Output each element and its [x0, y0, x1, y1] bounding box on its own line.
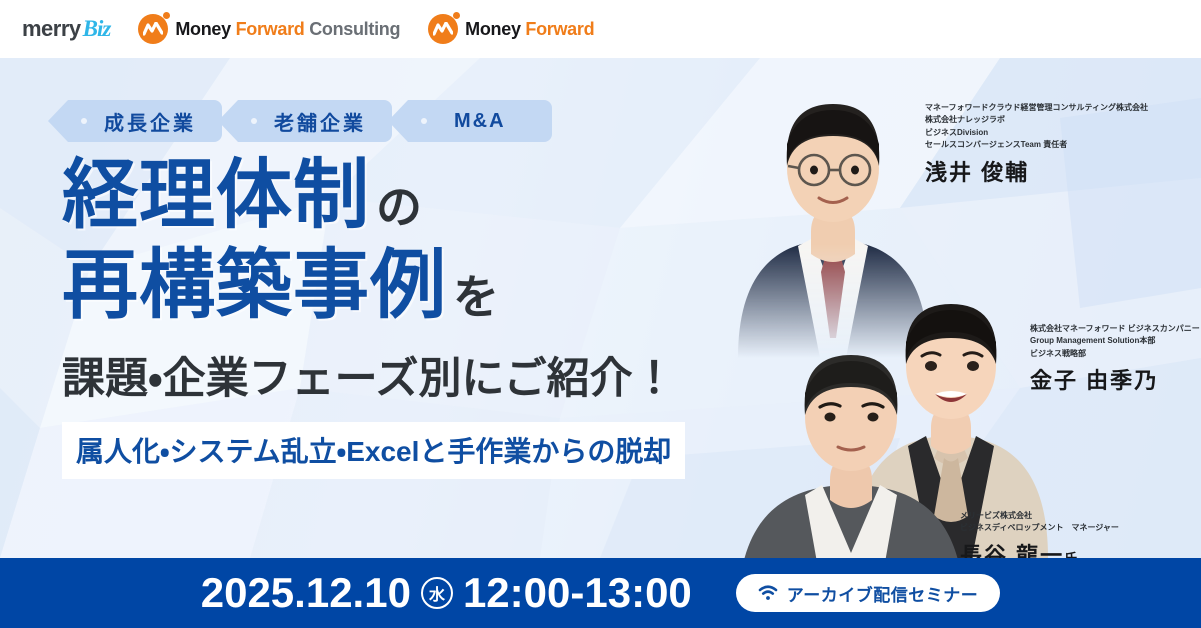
- speaker-org-line: マネーフォワードクラウド経営管理コンサルティング株式会社: [925, 102, 1148, 114]
- speaker-caption-asai: マネーフォワードクラウド経営管理コンサルティング株式会社 株式会社ナレッジラボ …: [925, 102, 1148, 187]
- speaker-caption-kaneko: 株式会社マネーフォワード ビジネスカンパニー Group Management …: [1030, 323, 1200, 395]
- tag-label: 成長企業: [104, 107, 196, 136]
- speaker-org-line: セールスコンバージェンスTeam 責任者: [925, 139, 1148, 151]
- headline-line-1: 経理体制 の: [62, 158, 685, 234]
- speaker-name: 金子 由季乃: [1030, 363, 1200, 395]
- speaker-org-line: 株式会社ナレッジラボ: [925, 114, 1148, 126]
- speaker-org-line: ビジネスディベロップメント マネージャー: [960, 522, 1119, 534]
- headline-block: 経理体制 の 再構築事例 を 課題・企業フェーズ別にご紹介！ 属人化・システム乱…: [62, 158, 685, 479]
- main-panel: 成長企業 老舗企業 M&A 経理体制 の 再構築事例 を 課題・企業フェーズ別に…: [0, 58, 1201, 558]
- event-date: 2025.12.10: [201, 569, 411, 617]
- mf-word-money: Money: [175, 19, 231, 39]
- mf-word-forward: Forward: [525, 19, 594, 39]
- headline-band: 属人化・システム乱立・Excelと手作業からの脱却: [62, 422, 685, 479]
- archive-seminar-badge: アーカイブ配信セミナー: [736, 574, 1000, 612]
- footer-bar: 2025.12.10 水 12:00-13:00 アーカイブ配信セミナー: [0, 558, 1201, 628]
- speaker-org-line: Group Management Solution本部: [1030, 335, 1200, 347]
- speaker-name-suffix: 氏: [1064, 551, 1077, 558]
- money-forward-consulting-logo-text: Money Forward Consulting: [175, 19, 400, 40]
- tag-list: 成長企業 老舗企業 M&A: [68, 100, 568, 142]
- merrybiz-logo-text-biz: Biz: [83, 16, 111, 42]
- money-forward-mark-icon: [428, 14, 458, 44]
- money-forward-logo: Money Forward: [428, 14, 594, 44]
- money-forward-consulting-logo: Money Forward Consulting: [138, 14, 400, 44]
- money-forward-mark-icon: [138, 14, 168, 44]
- event-weekday-badge: 水: [421, 577, 453, 609]
- headline-line-2: 再構築事例 を: [62, 248, 685, 324]
- speaker-group: マネーフォワードクラウド経営管理コンサルティング株式会社 株式会社ナレッジラボ …: [718, 58, 1201, 558]
- headline-subtitle: 課題・企業フェーズ別にご紹介！: [62, 344, 685, 406]
- tag-bullet-icon: [81, 118, 87, 124]
- merrybiz-logo-text-merry: merry: [22, 16, 81, 42]
- mf-word-consulting: Consulting: [309, 19, 400, 39]
- wifi-icon: [758, 585, 778, 601]
- speaker-caption-hase: メリービズ株式会社 ビジネスディベロップメント マネージャー 長谷 龍一氏: [960, 510, 1119, 558]
- money-forward-logo-text: Money Forward: [465, 19, 594, 40]
- archive-seminar-label: アーカイブ配信セミナー: [787, 581, 978, 606]
- tag-bullet-icon: [421, 118, 427, 124]
- event-time: 12:00-13:00: [463, 569, 692, 617]
- speaker-org-line: ビジネスDivision: [925, 127, 1148, 139]
- speaker-photo-hase: [726, 313, 976, 558]
- speaker-name: 浅井 俊輔: [925, 155, 1148, 187]
- headline-line-2-main: 再構築事例: [62, 248, 447, 324]
- mf-word-money: Money: [465, 19, 521, 39]
- headline-line-1-particle: の: [376, 184, 422, 230]
- tag-label: 老舗企業: [274, 107, 366, 136]
- event-datetime: 2025.12.10 水 12:00-13:00: [201, 569, 692, 617]
- tag-growth-company: 成長企業: [68, 100, 222, 142]
- tag-m-and-a: M&A: [408, 100, 552, 142]
- speaker-org-line: メリービズ株式会社: [960, 510, 1119, 522]
- headline-band-label: 属人化・システム乱立・Excelと手作業からの脱却: [76, 436, 671, 467]
- mf-word-forward: Forward: [236, 19, 305, 39]
- speaker-org-line: 株式会社マネーフォワード ビジネスカンパニー: [1030, 323, 1200, 335]
- tag-bullet-icon: [251, 118, 257, 124]
- speaker-org-line: ビジネス戦略部: [1030, 348, 1200, 360]
- speaker-name: 長谷 龍一氏: [960, 538, 1119, 558]
- headline-line-1-main: 経理体制: [62, 158, 370, 234]
- tag-established-company: 老舗企業: [238, 100, 392, 142]
- logo-bar: merry Biz Money Forward Consulting: [0, 0, 1201, 58]
- merrybiz-logo: merry Biz: [22, 16, 110, 42]
- tag-label: M&A: [454, 110, 506, 133]
- headline-line-2-particle: を: [453, 274, 499, 320]
- webinar-banner: merry Biz Money Forward Consulting: [0, 0, 1201, 628]
